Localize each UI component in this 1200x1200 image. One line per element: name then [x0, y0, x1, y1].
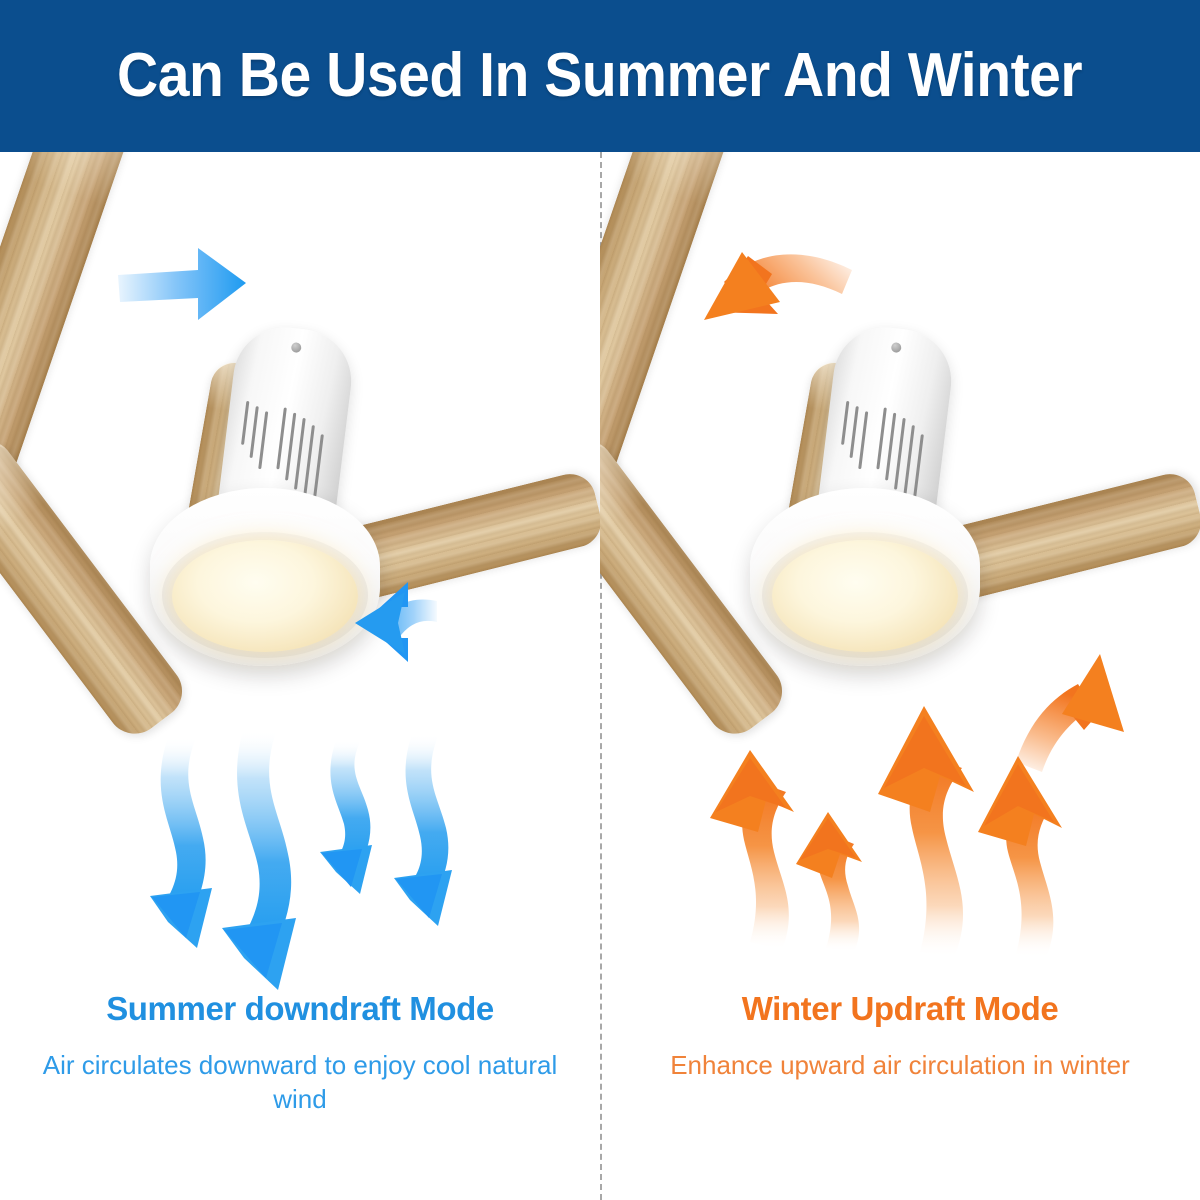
header-banner: Can Be Used In Summer And Winter [0, 0, 1200, 152]
vent-slot [249, 406, 258, 458]
caption-winter: Winter Updraft Mode Enhance upward air c… [600, 990, 1200, 1082]
vent-slot [258, 411, 268, 469]
content-area: Summer downdraft Mode Air circulates dow… [0, 152, 1200, 1200]
updraft-stream-4 [978, 756, 1062, 958]
vent-slot [241, 401, 249, 445]
caption-body-winter: Enhance upward air circulation in winter [626, 1048, 1174, 1082]
caption-body-summer: Air circulates downward to enjoy cool na… [26, 1048, 574, 1117]
vent-slot [885, 413, 896, 481]
vent-slot [313, 434, 324, 500]
vent-slot [294, 418, 306, 490]
caption-summer: Summer downdraft Mode Air circulates dow… [0, 990, 600, 1117]
downdraft-stream-3 [320, 740, 372, 894]
panel-summer: Summer downdraft Mode Air circulates dow… [0, 152, 600, 1200]
led-panel [172, 540, 358, 652]
vent-slot [903, 425, 915, 497]
vent-slot [913, 434, 924, 500]
vent-slot [285, 413, 296, 481]
updraft-stream-2 [796, 812, 862, 952]
vent-slot [858, 411, 868, 469]
page-title: Can Be Used In Summer And Winter [117, 45, 1082, 107]
vent-slot [849, 406, 858, 458]
vent-slot [276, 408, 287, 470]
panel-winter: Winter Updraft Mode Enhance upward air c… [600, 152, 1200, 1200]
caption-title-winter: Winter Updraft Mode [626, 990, 1174, 1028]
vent-slot [876, 408, 887, 470]
downdraft-stream-1 [150, 737, 212, 948]
vent-slot [894, 418, 906, 490]
light-housing [150, 488, 380, 666]
updraft-stream-1 [710, 750, 794, 950]
downdraft-stream-2 [222, 730, 296, 990]
fan-illustration-summer [0, 152, 600, 752]
caption-title-summer: Summer downdraft Mode [26, 990, 574, 1028]
housing-screw-icon [291, 342, 302, 353]
led-panel [772, 540, 958, 652]
fan-illustration-winter [600, 152, 1200, 752]
vent-slot [303, 425, 315, 497]
light-housing [750, 488, 980, 666]
downdraft-stream-4 [394, 734, 452, 926]
infographic-page: Can Be Used In Summer And Winter [0, 0, 1200, 1200]
vent-slot [841, 401, 849, 445]
housing-screw-icon [891, 342, 902, 353]
